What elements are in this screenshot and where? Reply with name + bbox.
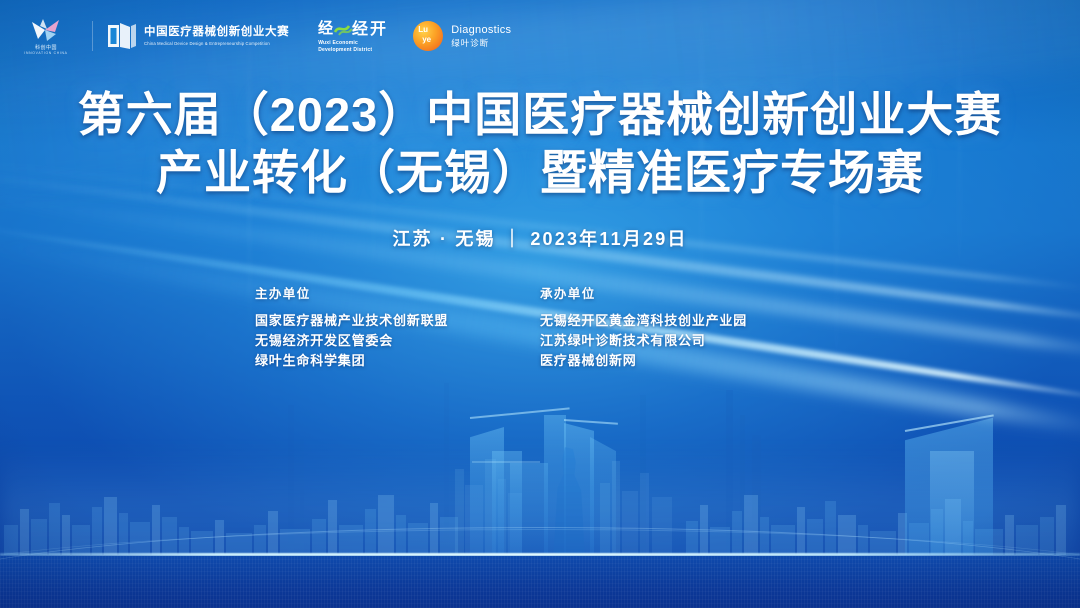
logo-luye-en: Diagnostics [451, 24, 511, 36]
event-location-date: 江苏 · 无锡 ｜ 2023年11月29日 [0, 225, 1080, 251]
cohost-organizer-item: 江苏绿叶诊断技术有限公司 [540, 331, 825, 351]
logo-luye-text: Diagnostics 绿叶诊断 [451, 24, 511, 48]
organizers-section: 主办单位 国家医疗器械产业技术创新联盟 无锡经济开发区管委会 绿叶生命科学集团 … [0, 283, 1080, 371]
cohost-organizers-heading: 承办单位 [540, 283, 825, 302]
open-book-mark-icon [107, 22, 137, 50]
logo-divider [92, 21, 93, 51]
cohost-organizers-column: 承办单位 无锡经开区黄金湾科技创业产业园 江苏绿叶诊断技术有限公司 医疗器械创新… [540, 283, 825, 371]
logo-kechuang-cn: 科创中国 [35, 45, 57, 51]
svg-text:经: 经 [318, 19, 333, 37]
logo-luye-diagnostics[interactable]: Lu ye Diagnostics 绿叶诊断 [413, 13, 511, 59]
luye-circle-icon: Lu ye [413, 21, 443, 51]
host-organizers-heading: 主办单位 [255, 283, 540, 302]
logo-wuxi-economic-development-district[interactable]: 经 经 开 Wuxi Economic Development District [318, 13, 392, 59]
logo-cmdc-text: 中国医疗器械创新创业大赛 China Medical Device Design… [144, 26, 289, 46]
host-organizer-item: 国家医疗器械产业技术创新联盟 [255, 311, 540, 331]
logo-wuxi-en-line2: Development District [318, 47, 372, 54]
logo-kechuang-en: INNOVATION CHINA [24, 51, 67, 55]
cohost-organizer-item: 无锡经开区黄金湾科技创业产业园 [540, 311, 825, 331]
logo-luye-cn: 绿叶诊断 [451, 38, 511, 48]
poster-content: 第六届（2023）中国医疗器械创新创业大赛 产业转化（无锡）暨精准医疗专场赛 江… [0, 86, 1080, 371]
logo-kechuang-caption: 科创中国 INNOVATION CHINA [24, 45, 67, 56]
svg-text:开: 开 [370, 20, 386, 38]
poster-title-line-1: 第六届（2023）中国医疗器械创新创业大赛 [0, 86, 1080, 144]
butterfly-mark-icon [29, 17, 63, 43]
luye-badge-top: Lu [418, 26, 428, 34]
logo-wuxi-en-line1: Wuxi Economic [318, 40, 358, 47]
poster-title-line-2: 产业转化（无锡）暨精准医疗专场赛 [0, 144, 1080, 202]
logo-kechuang-china[interactable]: 科创中国 INNOVATION CHINA [14, 13, 78, 59]
logo-cmdc-cn: 中国医疗器械创新创业大赛 [144, 26, 289, 39]
luye-badge-bottom: ye [422, 36, 431, 44]
cohost-organizer-item: 医疗器械创新网 [540, 351, 825, 371]
logo-cmdc-en: China Medical Device Design & Entreprene… [144, 41, 289, 46]
event-poster: 科创中国 INNOVATION CHINA 中国医疗器械创新创业大赛 China… [0, 0, 1080, 608]
wuxi-calligraphy-icon: 经 经 开 [318, 18, 392, 38]
host-organizers-column: 主办单位 国家医疗器械产业技术创新联盟 无锡经济开发区管委会 绿叶生命科学集团 [255, 283, 540, 371]
logo-china-medical-device-competition[interactable]: 中国医疗器械创新创业大赛 China Medical Device Design… [107, 13, 289, 59]
host-organizer-item: 绿叶生命科学集团 [255, 351, 540, 371]
sponsor-logo-bar: 科创中国 INNOVATION CHINA 中国医疗器械创新创业大赛 China… [0, 0, 1080, 72]
svg-text:经: 经 [352, 19, 368, 38]
host-organizer-item: 无锡经济开发区管委会 [255, 331, 540, 351]
